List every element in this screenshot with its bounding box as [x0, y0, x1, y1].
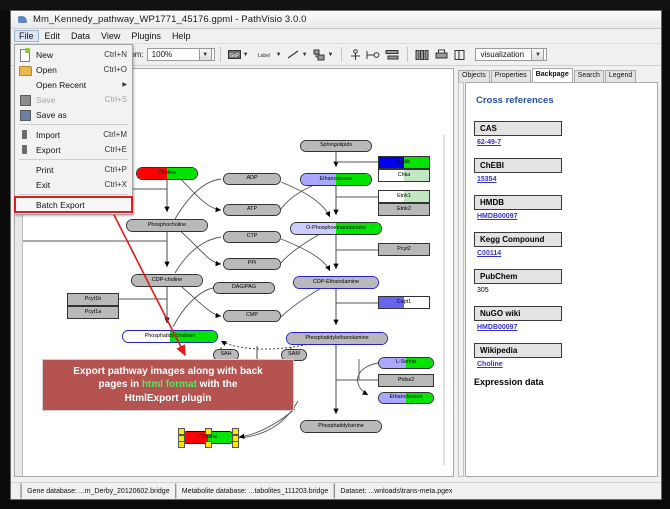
pathway-node-ctp[interactable]: CTP — [223, 231, 281, 243]
node-label: SAM — [288, 352, 300, 357]
node-label: O-Phosphoethanolamine — [306, 226, 366, 231]
node-label: CMP — [246, 313, 258, 318]
zoom-combo[interactable]: 100% ▼ — [147, 48, 215, 61]
pathway-node-atp[interactable]: ATP — [223, 204, 281, 216]
xref-value-wikipedia[interactable]: Choline — [477, 361, 649, 368]
pathway-node-cdp-choline[interactable]: CDP-choline — [131, 274, 203, 287]
pathway-node-l-serine[interactable]: L-Serine — [378, 357, 434, 369]
pathway-node-ethanolamine2[interactable]: Ethanolamine — [378, 392, 434, 404]
pathway-node-adp[interactable]: ADP — [223, 173, 281, 185]
tab-objects[interactable]: Objects — [458, 70, 490, 82]
menu-item-spacer — [18, 199, 32, 211]
file-menu-item-shortcut: Ctrl+X — [105, 180, 132, 189]
toolbar-divider — [220, 47, 221, 62]
selection-handle[interactable] — [205, 428, 212, 435]
file-menu-item-save-as[interactable]: Save as — [15, 107, 132, 122]
node-label: Phosphocholine — [148, 223, 186, 228]
xref-value-hmdb[interactable]: HMDB00097 — [477, 213, 649, 220]
node-label: CDP-Ethanolamine — [313, 280, 359, 285]
xref-value-kegg-compound[interactable]: C00114 — [477, 250, 649, 257]
pathway-node-pcyt2[interactable]: Pcyt2 — [378, 243, 430, 256]
menu-view[interactable]: View — [96, 30, 125, 42]
pathway-node-ppi[interactable]: PPi — [223, 258, 281, 270]
open-folder-icon — [18, 64, 32, 76]
pathway-node-pcyt1b[interactable]: Pcyt1b — [67, 293, 119, 306]
pathway-node-ethanolamine[interactable]: Ethanolamine — [300, 173, 372, 186]
toolbar-divider-2 — [341, 47, 342, 62]
menu-item-spacer — [18, 79, 32, 91]
pathway-node-cept1[interactable]: Cept1 — [378, 296, 430, 309]
node-label: PPi — [248, 261, 256, 266]
menu-data[interactable]: Data — [66, 30, 95, 42]
file-menu-item-label: Open Recent — [36, 80, 122, 90]
xref-value-cas[interactable]: 62-49-7 — [477, 139, 649, 146]
pathway-node-o-phosphoethanolamine[interactable]: O-Phosphoethanolamine — [290, 222, 382, 235]
status-gene-database: Gene database: ...m_Derby_20120602.bridg… — [27, 488, 169, 495]
menu-item-spacer — [18, 164, 32, 176]
pathway-node-chka[interactable]: Chka — [378, 169, 430, 182]
submenu-arrow-icon: ▶ — [122, 81, 132, 88]
pathway-node-phosphatidylcholines[interactable]: Phosphatidylcholines — [122, 330, 218, 343]
status-divider-0: | — [15, 482, 27, 500]
pathway-node-pcyt1a[interactable]: Pcyt1a — [67, 306, 119, 319]
file-menu-item-exit[interactable]: ExitCtrl+X — [15, 177, 132, 192]
backpage-content: Cross references CAS62-49-7ChEBI15354HMD… — [465, 82, 658, 477]
pathway-node-ptdss2[interactable]: Ptdss2 — [378, 374, 434, 387]
file-menu-item-export[interactable]: ExportCtrl+E — [15, 142, 132, 157]
print-tool-icon[interactable] — [433, 47, 450, 62]
node-label: Choline — [199, 435, 217, 440]
node-label: SAH — [220, 352, 231, 357]
file-menu-item-shortcut: Ctrl+S — [105, 95, 132, 104]
node-label: Chka — [398, 173, 411, 178]
pathway-node-cmp[interactable]: CMP — [223, 310, 281, 322]
node-label: CDP-choline — [152, 278, 182, 283]
file-menu-item-shortcut: Ctrl+P — [105, 165, 132, 174]
toolbar-divider-3 — [407, 47, 408, 62]
node-label: Chkb — [398, 160, 411, 165]
new-document-icon — [18, 49, 32, 61]
xref-value-pubchem: 305 — [477, 287, 649, 294]
menu-edit[interactable]: Edit — [40, 30, 66, 42]
svg-text:Label: Label — [258, 53, 270, 59]
shape-dropdown-icon[interactable]: ▼ — [328, 52, 334, 58]
file-menu-item-label: Print — [36, 165, 105, 175]
pathway-node-phosphatidylethanolamine[interactable]: Phosphatidylethanolamine — [286, 332, 388, 345]
node-label: Pcyt1b — [85, 297, 101, 302]
xref-value-nugo-wiki[interactable]: HMDB00097 — [477, 324, 649, 331]
callout-annotation: Export pathway images along with back pa… — [42, 359, 294, 411]
label-tool-icon[interactable]: Label — [253, 47, 275, 62]
tab-legend[interactable]: Legend — [605, 70, 636, 82]
menu-plugins[interactable]: Plugins — [126, 30, 166, 42]
xref-header-kegg-compound: Kegg Compound — [474, 232, 562, 247]
node-label: Ptdss2 — [398, 378, 414, 383]
anchor-tool-icon[interactable] — [348, 47, 363, 62]
pathway-node-etnk1[interactable]: Etnk1 — [378, 190, 430, 203]
node-label: Phosphatidylserine — [318, 424, 364, 429]
pathway-node-phosphatidylserine[interactable]: Phosphatidylserine — [300, 420, 382, 433]
pathway-node-etnk2[interactable]: Etnk2 — [378, 203, 430, 216]
file-menu-dropdown[interactable]: NewCtrl+NOpenCtrl+OOpen Recent▶SaveCtrl+… — [14, 44, 133, 215]
file-menu-item-shortcut: Ctrl+N — [104, 50, 132, 59]
file-menu-item-import[interactable]: ImportCtrl+M — [15, 127, 132, 142]
file-menu-item-label: Batch Export — [36, 200, 127, 210]
callout-line1: Export pathway images along with back — [73, 366, 263, 377]
node-label: Choline — [158, 171, 176, 176]
status-divider-2: | — [328, 482, 340, 500]
selection-handle[interactable] — [205, 441, 212, 448]
callout-line2-a: pages in — [99, 379, 142, 390]
node-label: Ethanolamine — [390, 395, 423, 400]
visualization-value: visualization — [478, 50, 531, 59]
expression-data-title: Expression data — [474, 377, 649, 387]
side-panel-tabs[interactable]: Objects Properties Backpage Search Legen… — [458, 68, 658, 82]
align-tool-icon[interactable] — [384, 47, 401, 62]
xref-header-cas: CAS — [474, 121, 562, 136]
file-menu-item-label: New — [36, 50, 104, 60]
label-dropdown-icon[interactable]: ▼ — [276, 52, 282, 58]
file-menu-separator — [19, 124, 128, 125]
save-icon — [18, 94, 32, 106]
sidebar-tool-icon[interactable] — [452, 47, 469, 62]
state-tool-icon[interactable] — [365, 47, 382, 62]
export-icon — [18, 144, 32, 156]
shape-tool-icon[interactable] — [312, 47, 327, 62]
pathway-node-cdp-ethanolamine[interactable]: CDP-Ethanolamine — [293, 276, 379, 289]
pathvisio-window: Mm_Kennedy_pathway_WP1771_45176.gpml - P… — [10, 10, 662, 500]
xref-header-chebi: ChEBI — [474, 158, 562, 173]
zoom-value: 100% — [150, 50, 199, 59]
node-label: Ethanolamine — [320, 177, 353, 182]
file-menu-item-label: Save — [36, 95, 105, 105]
xref-header-wikipedia: Wikipedia — [474, 343, 562, 358]
file-menu-separator — [19, 194, 128, 195]
status-divider-1: | — [170, 482, 182, 500]
pathway-node-choline[interactable]: Choline — [136, 167, 198, 180]
node-label: ATP — [247, 207, 257, 212]
outer-frame: Mm_Kennedy_pathway_WP1771_45176.gpml - P… — [0, 0, 670, 509]
menu-help[interactable]: Help — [167, 30, 196, 42]
node-label: Etnk1 — [397, 194, 411, 199]
file-menu-item-shortcut: Ctrl+O — [104, 65, 132, 74]
node-label: Phosphatidylcholines — [145, 334, 196, 339]
datanode-dropdown-icon[interactable]: ▼ — [243, 52, 249, 58]
callout-line2-b: with the — [197, 379, 238, 390]
save-as-icon — [18, 109, 32, 121]
node-label: Phosphatidylethanolamine — [305, 336, 368, 341]
node-label: Cept1 — [397, 300, 411, 305]
columns-tool-icon[interactable] — [414, 47, 431, 62]
callout-text: Export pathway images along with back pa… — [67, 365, 269, 406]
tab-search[interactable]: Search — [574, 70, 604, 82]
cross-references-title: Cross references — [476, 95, 649, 106]
node-label: ADP — [246, 176, 257, 181]
file-menu-item-label: Save as — [36, 110, 127, 120]
file-menu-item-open-recent[interactable]: Open Recent▶ — [15, 77, 132, 92]
visualization-combo[interactable]: visualization ▼ — [475, 48, 547, 61]
line-dropdown-icon[interactable]: ▼ — [302, 52, 308, 58]
svg-text:GnP: GnP — [229, 53, 240, 59]
callout-line3: HtmlExport plugin — [125, 393, 212, 404]
status-dataset: Dataset: ...wnloads\trans-meta.pgex — [340, 488, 452, 495]
status-bar: | Gene database: ...m_Derby_20120602.bri… — [11, 482, 661, 499]
chevron-down-icon[interactable]: ▼ — [199, 48, 212, 61]
window-title: Mm_Kennedy_pathway_WP1771_45176.gpml - P… — [33, 14, 307, 25]
file-menu-item-shortcut: Ctrl+E — [105, 145, 132, 154]
pathway-node-sphingolipids[interactable]: Sphingolipids — [300, 140, 372, 152]
menu-bar[interactable]: File Edit Data View Plugins Help — [11, 29, 661, 44]
node-label: DAG/PAG — [232, 285, 256, 290]
node-fill-right — [252, 259, 280, 269]
node-label: Pcyt1a — [85, 310, 101, 315]
xref-header-pubchem: PubChem — [474, 269, 562, 284]
pathvisio-icon — [17, 14, 28, 25]
datanode-tool-icon[interactable]: GnP — [227, 47, 242, 62]
node-label: Sphingolipids — [320, 143, 352, 148]
menu-file[interactable]: File — [14, 30, 39, 42]
cross-reference-list: CAS62-49-7ChEBI15354HMDBHMDB00097Kegg Co… — [474, 118, 649, 368]
xref-header-hmdb: HMDB — [474, 195, 562, 210]
pathway-node-dagpag[interactable]: DAG/PAG — [213, 282, 275, 294]
file-menu-item-label: Export — [36, 145, 105, 155]
screen-background — [0, 0, 670, 10]
callout-line2-green: html format — [142, 379, 197, 390]
file-menu-item-save[interactable]: SaveCtrl+S — [15, 92, 132, 107]
menu-item-spacer — [18, 179, 32, 191]
tab-backpage[interactable]: Backpage — [532, 68, 573, 82]
title-bar: Mm_Kennedy_pathway_WP1771_45176.gpml - P… — [11, 11, 661, 29]
file-menu-item-new[interactable]: NewCtrl+N — [15, 47, 132, 62]
file-menu-separator — [19, 159, 128, 160]
node-label: Pcyt2 — [397, 247, 410, 252]
selection-handle[interactable] — [232, 441, 239, 448]
node-label: CTP — [247, 234, 258, 239]
node-label: L-Serine — [396, 360, 416, 365]
pathway-node-chkb[interactable]: Chkb — [378, 156, 430, 169]
xref-value-chebi[interactable]: 15354 — [477, 176, 649, 183]
file-menu-item-label: Open — [36, 65, 104, 75]
file-menu-item-label: Exit — [36, 180, 105, 190]
line-tool-icon[interactable] — [286, 47, 301, 62]
file-menu-item-open[interactable]: OpenCtrl+O — [15, 62, 132, 77]
status-metabolite-database: Metabolite database: ...tabolites_111203… — [182, 488, 328, 495]
node-label: Etnk2 — [397, 207, 411, 212]
import-icon — [18, 129, 32, 141]
xref-header-nugo-wiki: NuGO wiki — [474, 306, 562, 321]
file-menu-item-shortcut: Ctrl+M — [103, 130, 132, 139]
side-panel: Objects Properties Backpage Search Legen… — [458, 68, 658, 477]
selection-handle[interactable] — [178, 441, 185, 448]
file-menu-item-label: Import — [36, 130, 103, 140]
side-panel-scrollbar[interactable] — [458, 82, 464, 477]
pathway-node-phosphocholine[interactable]: Phosphocholine — [126, 219, 208, 232]
file-menu-item-batch-export[interactable]: Batch Export — [15, 197, 132, 212]
chevron-down-icon-2[interactable]: ▼ — [531, 48, 544, 61]
tab-properties[interactable]: Properties — [491, 70, 531, 82]
file-menu-item-print[interactable]: PrintCtrl+P — [15, 162, 132, 177]
